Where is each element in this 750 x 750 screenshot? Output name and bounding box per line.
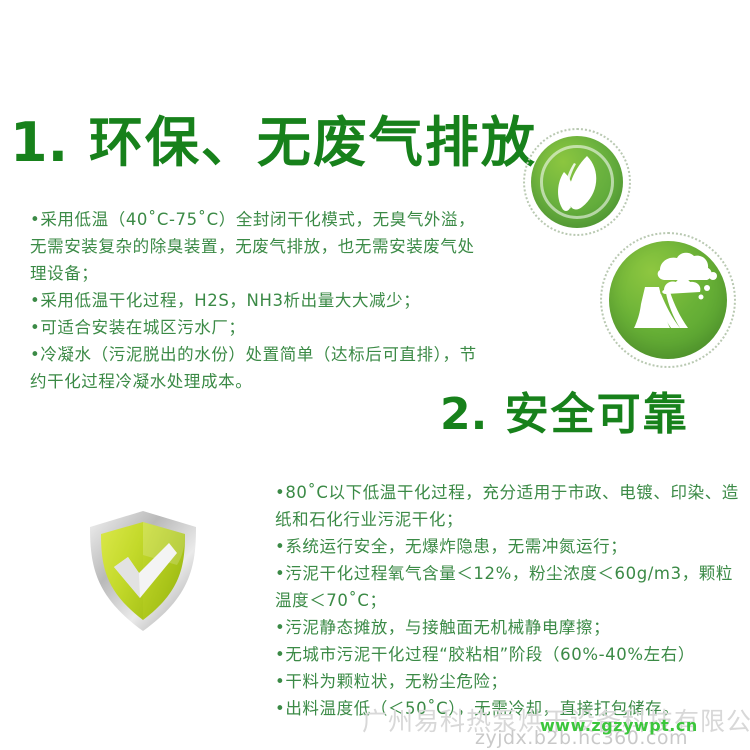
section-1-bullet-3: •可适合安装在城区污水厂； <box>30 314 490 341</box>
shield-glyph <box>78 505 208 637</box>
section-1-bullet-1: •采用低温（40˚C-75˚C）全封闭干化模式，无臭气外溢，无需安装复杂的除臭装… <box>30 206 490 287</box>
section-1-title: 环保、无废气排放 <box>89 110 537 174</box>
section-2-title: 安全可靠 <box>505 389 689 440</box>
section-2-bullet-5: •无城市污泥干化过程“胶粘相”阶段（60%-40%左右） <box>275 641 745 668</box>
cooling-tower-glyph <box>600 232 736 368</box>
section-2-heading: 2. 安全可靠 <box>440 393 689 437</box>
website-url-watermark: www.zgzywpt.cn <box>540 716 698 735</box>
section-1-number: 1. <box>10 111 68 174</box>
leaf-glyph <box>523 128 631 236</box>
slide-canvas: 1. 环保、无废气排放 •采用低温（40˚C-75˚C）全封闭干化模式，无臭气外… <box>0 0 750 750</box>
cooling-tower-badge-icon <box>600 232 736 368</box>
section-2-bullet-1: •80˚C以下低温干化过程，充分适用于市政、电镀、印染、造纸和石化行业污泥干化； <box>275 479 745 533</box>
section-1-heading: 1. 环保、无废气排放 <box>10 115 537 170</box>
shield-check-icon <box>78 505 208 637</box>
section-2-bullet-6: •干料为颗粒状，无粉尘危险； <box>275 668 745 695</box>
section-2-number: 2. <box>440 389 487 440</box>
section-2-bullet-3: •污泥干化过程氧气含量＜12%，粉尘浓度＜60g/m3，颗粒温度＜70˚C； <box>275 560 745 614</box>
section-2-bullet-2: •系统运行安全，无爆炸隐患，无需冲氮运行； <box>275 533 745 560</box>
section-2-bullet-4: •污泥静态摊放，与接触面无机械静电摩擦； <box>275 614 745 641</box>
section-2-body: •80˚C以下低温干化过程，充分适用于市政、电镀、印染、造纸和石化行业污泥干化；… <box>275 479 745 722</box>
section-1-body: •采用低温（40˚C-75˚C）全封闭干化模式，无臭气外溢，无需安装复杂的除臭装… <box>30 206 490 395</box>
leaf-badge-icon <box>523 128 631 236</box>
section-1-bullet-2: •采用低温干化过程，H2S，NH3析出量大大减少； <box>30 287 490 314</box>
section-1-bullet-4: •冷凝水（污泥脱出的水份）处置简单（达标后可直排），节约干化过程冷凝水处理成本。 <box>30 341 490 395</box>
